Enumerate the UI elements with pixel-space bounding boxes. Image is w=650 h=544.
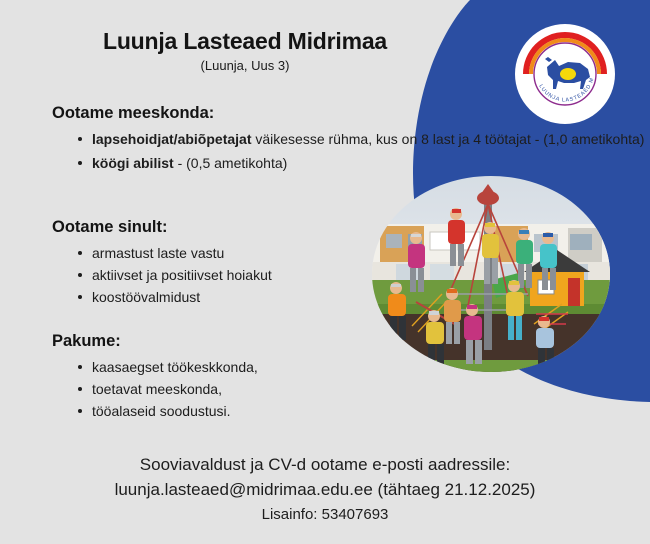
footer-line-phone: Lisainfo: 53407693 <box>0 502 650 527</box>
list-item-bold: köögi abilist <box>92 155 174 171</box>
list-item-bold: lapsehoidjat/abiõpetajat <box>92 131 251 147</box>
contact-footer: Sooviavaldust ja CV-d ootame e-posti aad… <box>0 452 650 527</box>
list-item-text: armastust laste vastu <box>92 245 224 261</box>
section-expectations: Ootame sinult: armastust laste vastu akt… <box>52 218 272 309</box>
list-item: köögi abilist - (0,5 ametikohta) <box>92 153 644 174</box>
list-item-text: koostöövalmidust <box>92 289 200 305</box>
footer-line-instruction: Sooviavaldust ja CV-d ootame e-posti aad… <box>0 452 650 477</box>
list-item: kaasaegset töökeskkonda, <box>92 357 258 377</box>
section-heading-team: Ootame meeskonda: <box>52 104 644 123</box>
page-subtitle: (Luunja, Uus 3) <box>0 58 490 73</box>
list-item: koostöövalmidust <box>92 287 272 307</box>
list-item: armastust laste vastu <box>92 243 272 263</box>
page-title: Luunja Lasteaed Midrimaa <box>0 28 490 55</box>
footer-line-email-deadline: luunja.lasteaed@midrimaa.edu.ee (tähtaeg… <box>0 477 650 502</box>
section-heading-expectations: Ootame sinult: <box>52 218 272 237</box>
list-item: aktiivset ja positiivset hoiakut <box>92 265 272 285</box>
list-team: lapsehoidjat/abiõpetajat väikesesse rühm… <box>52 129 644 174</box>
list-item-text: aktiivset ja positiivset hoiakut <box>92 267 272 283</box>
list-offer: kaasaegset töökeskkonda, toetavat meesko… <box>52 357 258 421</box>
job-posting-poster: LUUNJA LASTEAED MIDRIMAA <box>0 0 650 544</box>
list-item: toetavat meeskonda, <box>92 379 258 399</box>
section-team: Ootame meeskonda: lapsehoidjat/abiõpetaj… <box>52 104 644 177</box>
list-item: tööalaseid soodustusi. <box>92 401 258 421</box>
list-item-text: toetavat meeskonda, <box>92 381 222 397</box>
list-item: lapsehoidjat/abiõpetajat väikesesse rühm… <box>92 129 644 150</box>
section-offer: Pakume: kaasaegset töökeskkonda, toetava… <box>52 332 258 423</box>
list-item-text: tööalaseid soodustusi. <box>92 403 231 419</box>
list-item-text: - (0,5 ametikohta) <box>174 155 288 171</box>
list-item-text: väikesesse rühma, kus on 8 last ja 4 töö… <box>251 131 644 147</box>
list-expectations: armastust laste vastu aktiivset ja posit… <box>52 243 272 307</box>
list-item-text: kaasaegset töökeskkonda, <box>92 359 258 375</box>
staff-photo <box>372 176 610 372</box>
section-heading-offer: Pakume: <box>52 332 258 351</box>
